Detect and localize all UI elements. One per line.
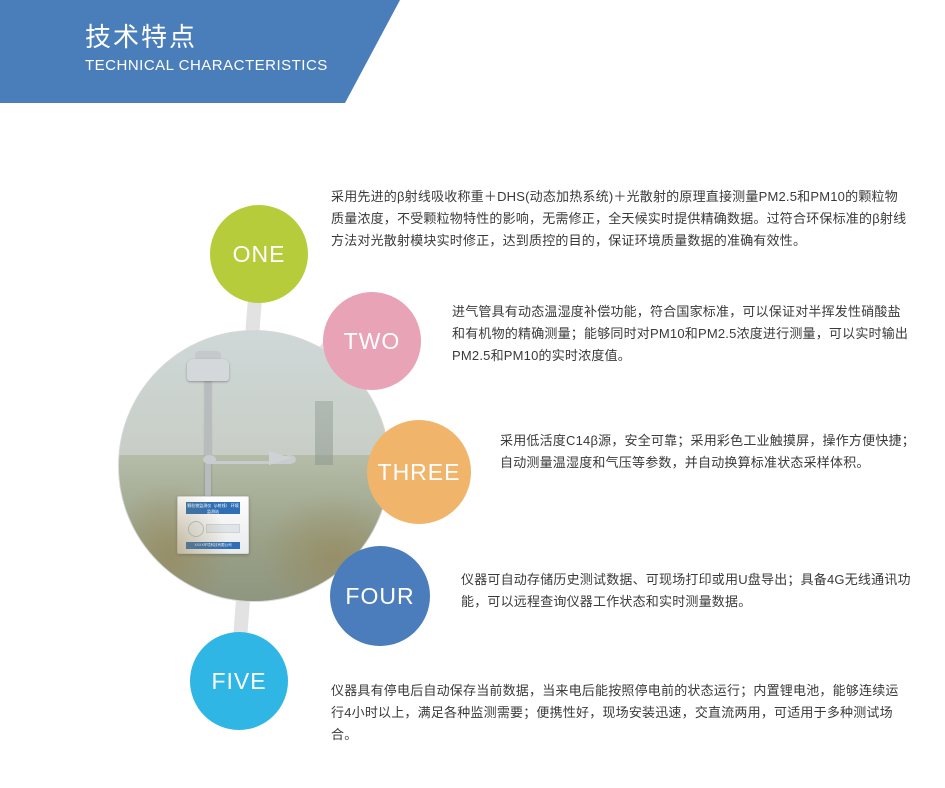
photo-foliage <box>118 481 229 601</box>
feature-bubble-one-label: ONE <box>233 241 286 268</box>
page-title: 技术特点 <box>85 20 328 54</box>
feature-bubble-four[interactable]: FOUR <box>330 546 430 646</box>
feature-text-five: 仪器具有停电后自动保存当前数据，当来电后能按照停电前的状态运行；内置锂电池，能够… <box>331 680 911 746</box>
wind-vane <box>269 451 291 465</box>
feature-bubble-five[interactable]: FIVE <box>190 632 288 730</box>
feature-bubble-two[interactable]: TWO <box>323 292 421 390</box>
header-banner: 技术特点 TECHNICAL CHARACTERISTICS <box>0 0 400 103</box>
feature-bubble-three[interactable]: THREE <box>367 420 471 524</box>
header-banner-text: 技术特点 TECHNICAL CHARACTERISTICS <box>85 20 328 76</box>
photo-background-tower <box>315 401 333 465</box>
feature-text-three: 采用低活度C14β源，安全可靠；采用彩色工业触摸屏，操作方便快捷；自动测量温湿度… <box>500 430 920 474</box>
anemometer-cup <box>203 455 216 464</box>
feature-text-four: 仪器可自动存储历史测试数据、可现场打印或用U盘导出；具备4G无线通讯功能，可以远… <box>461 569 911 613</box>
feature-bubble-three-label: THREE <box>378 459 461 486</box>
sampling-inlet <box>187 359 229 381</box>
feature-bubble-four-label: FOUR <box>345 583 414 610</box>
feature-bubble-two-label: TWO <box>344 328 401 355</box>
page-subtitle: TECHNICAL CHARACTERISTICS <box>85 56 328 76</box>
feature-text-two: 进气管具有动态温湿度补偿功能，符合国家标准，可以保证对半挥发性硝酸盐和有机物的精… <box>452 301 912 367</box>
feature-bubble-five-label: FIVE <box>211 668 266 695</box>
feature-text-one: 采用先进的β射线吸收称重＋DHS(动态加热系统)＋光散射的原理直接测量PM2.5… <box>331 186 911 252</box>
feature-bubble-one[interactable]: ONE <box>210 205 308 303</box>
